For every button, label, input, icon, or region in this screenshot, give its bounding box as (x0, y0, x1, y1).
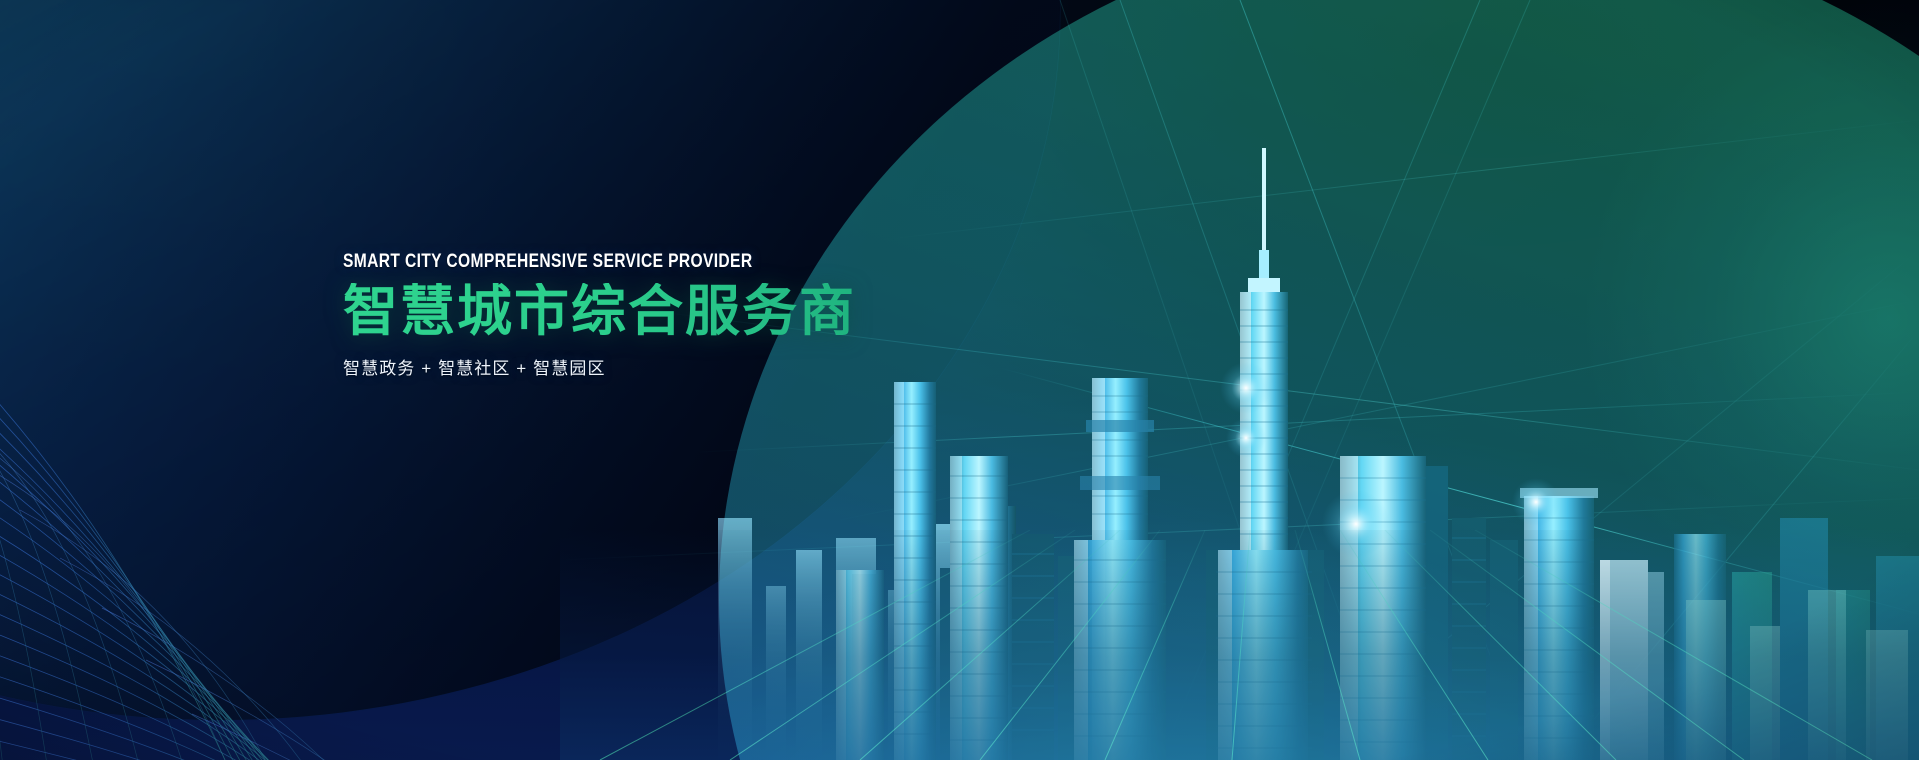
page-title: 智慧城市综合服务商 (343, 283, 1103, 340)
hero-text-block: SMART CITY COMPREHENSIVE SERVICE PROVIDE… (343, 250, 1103, 379)
smart-city-hero-banner: SMART CITY COMPREHENSIVE SERVICE PROVIDE… (0, 0, 1919, 760)
subtitle-services: 智慧政务 + 智慧社区 + 智慧园区 (343, 354, 1103, 379)
green-edge-glow (1299, 0, 1919, 760)
eyebrow-tagline: SMART CITY COMPREHENSIVE SERVICE PROVIDE… (343, 250, 951, 273)
